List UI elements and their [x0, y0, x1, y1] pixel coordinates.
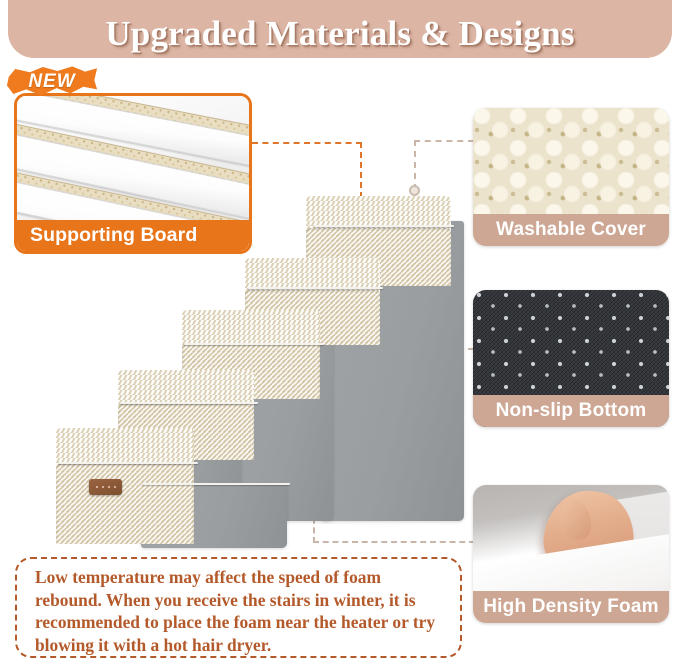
page-title: Upgraded Materials & Designs — [105, 14, 574, 54]
notice-box: Low temperature may affect the speed of … — [15, 557, 462, 658]
high-density-foam-label: High Density Foam — [483, 596, 658, 618]
feature-card-washable-cover: Washable Cover — [473, 108, 669, 246]
thumb-shape — [555, 496, 595, 543]
feature-card-nonslip-bottom: Non-slip Bottom — [473, 290, 669, 427]
edge-highlight-base — [142, 483, 290, 485]
nonslip-bottom-label-bar: Non-slip Bottom — [473, 395, 669, 427]
supporting-board-label: Supporting Board — [30, 224, 197, 247]
nonslip-bottom-label: Non-slip Bottom — [496, 400, 647, 422]
edge-highlight-5 — [314, 225, 454, 227]
edge-highlight-1 — [58, 462, 198, 464]
brand-leather-tag — [89, 479, 122, 495]
edge-highlight-3 — [184, 343, 324, 345]
washable-cover-label: Washable Cover — [496, 219, 646, 241]
new-badge-label: NEW — [6, 65, 98, 98]
step-1-riser — [56, 464, 194, 544]
infographic-root: Upgraded Materials & Designs — [0, 0, 679, 671]
washable-cover-label-bar: Washable Cover — [473, 214, 669, 246]
edge-highlight-2 — [120, 402, 258, 404]
feature-card-high-density-foam: High Density Foam — [473, 485, 669, 623]
connector-supporting-board-horizontal — [252, 142, 362, 144]
connector-washable-cover-horizontal — [414, 140, 474, 142]
high-density-foam-label-bar: High Density Foam — [473, 591, 669, 623]
notice-text: Low temperature may affect the speed of … — [35, 566, 445, 656]
supporting-board-label-bar: Supporting Board — [17, 220, 249, 251]
new-badge: NEW — [6, 65, 98, 98]
edge-highlight-4 — [248, 287, 383, 289]
header-banner: Upgraded Materials & Designs — [8, 0, 672, 58]
callout-supporting-board: Supporting Board — [14, 93, 252, 254]
